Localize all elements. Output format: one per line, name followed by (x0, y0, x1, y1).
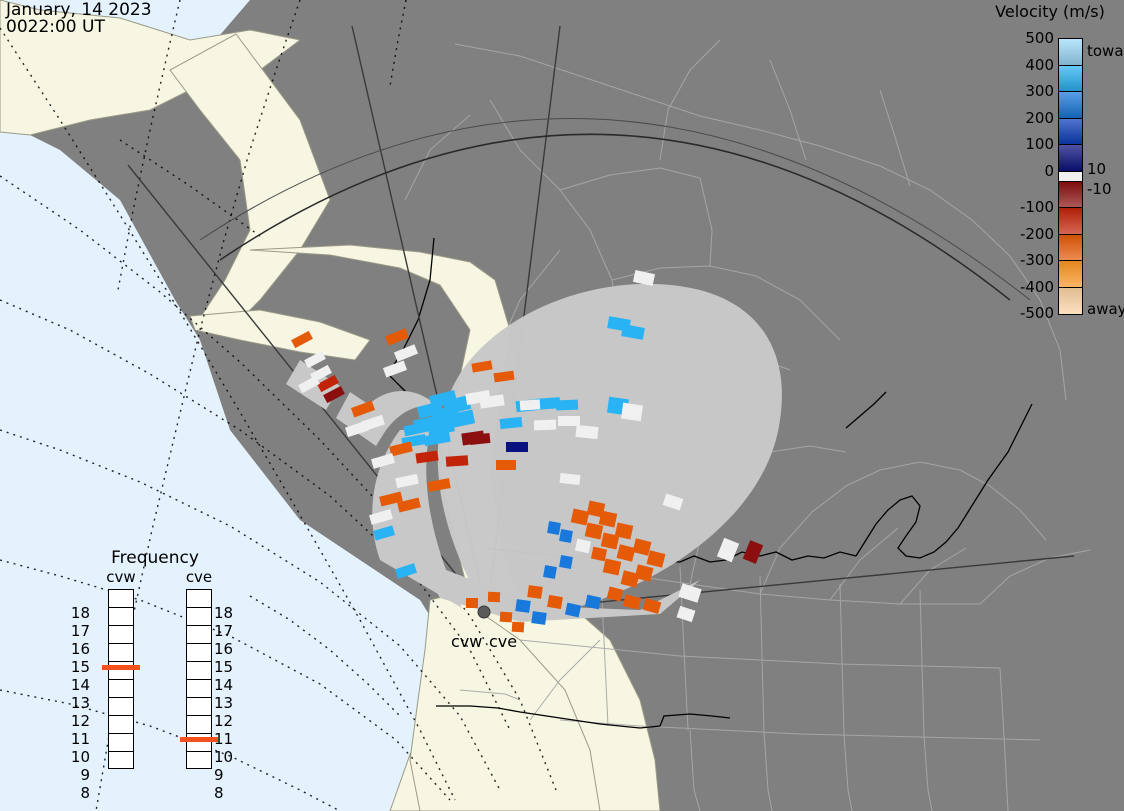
frequency-axis-label: 10 (66, 750, 90, 765)
velocity-cell (496, 460, 516, 470)
colorbar-tick-label: 100 (996, 137, 1054, 152)
velocity-cell (479, 394, 504, 408)
velocity-cell (621, 570, 640, 587)
velocity-cell (493, 371, 514, 383)
velocity-cell (547, 595, 563, 609)
velocity-cell (559, 555, 573, 569)
velocity-cell (603, 558, 622, 575)
velocity-cell (585, 595, 601, 610)
frequency-axis-label: 16 (66, 642, 90, 657)
frequency-axis-label: 13 (66, 696, 90, 711)
frequency-scale-box (108, 589, 134, 769)
velocity-cell (575, 425, 598, 439)
frequency-axis-label: 16 (214, 642, 238, 657)
velocity-cell (520, 399, 541, 410)
velocity-cell (615, 522, 634, 539)
velocity-cell (560, 473, 581, 485)
frequency-scale-cell (187, 716, 211, 734)
velocity-cell (527, 585, 543, 599)
site-label-cvw: cvw (451, 632, 482, 651)
frequency-axis-label: 15 (214, 660, 238, 675)
frequency-marker (180, 737, 218, 742)
velocity-cell (371, 453, 395, 469)
frequency-scale-cell (187, 698, 211, 716)
velocity-cell (351, 401, 375, 418)
colorbar-tick-label: 200 (996, 111, 1054, 126)
frequency-scale-box (186, 589, 212, 769)
frequency-title: Frequency (90, 548, 220, 568)
site-label-cve: cve (489, 632, 517, 651)
frequency-axis-label: 18 (66, 606, 90, 621)
velocity-cell (446, 455, 469, 467)
velocity-cell (585, 522, 604, 539)
colorbar-band (1059, 119, 1082, 146)
colorbar-title: Velocity (m/s) (981, 2, 1119, 21)
radar-map-screenshot: January, 14 2023 0022:00 UT Velocity (m/… (0, 0, 1124, 811)
frequency-scale-cell (109, 590, 133, 608)
velocity-cell (291, 331, 313, 348)
frequency-scale-cell (109, 680, 133, 698)
velocity-cell (547, 521, 561, 535)
colorbar-band (1059, 92, 1082, 119)
frequency-axis-label: 9 (66, 768, 90, 783)
velocity-cell (543, 565, 557, 579)
frequency-scale-cell (109, 752, 133, 770)
colorbar-tick-label: 400 (996, 58, 1054, 73)
velocity-cell (647, 550, 666, 567)
velocity-cell (663, 494, 684, 511)
velocity-cell (395, 563, 417, 579)
colorbar-band (1059, 182, 1082, 209)
velocity-cell (591, 547, 607, 562)
velocity-cell (743, 540, 763, 564)
frequency-axis-label: 15 (66, 660, 90, 675)
velocity-cell (369, 509, 393, 525)
frequency-scale-cell (187, 644, 211, 662)
velocity-cell (556, 400, 578, 411)
frequency-axis-label: 9 (214, 768, 238, 783)
velocity-colorbar: Velocity (m/s) 5004003002001000-100-200-… (975, 0, 1124, 330)
frequency-scale-cell (187, 626, 211, 644)
frequency-axis-label: 14 (66, 678, 90, 693)
frequency-scale-cell (187, 608, 211, 626)
velocity-cell (383, 361, 407, 378)
frequency-axis-label: 14 (214, 678, 238, 693)
velocity-cell (559, 529, 573, 543)
frequency-column-name: cve (168, 569, 230, 585)
frequency-axis-label: 8 (214, 786, 238, 801)
frequency-marker (102, 665, 140, 670)
colorbar-band (1059, 261, 1082, 288)
colorbar-tick-label: -100 (996, 200, 1054, 215)
frequency-axis-label: 13 (214, 696, 238, 711)
frequency-column-cve: cve 18171615141312111098 (168, 569, 230, 769)
velocity-cell (506, 442, 528, 452)
velocity-cell (466, 598, 478, 608)
frequency-scale-cell (109, 716, 133, 734)
colorbar-tick-label: 300 (996, 84, 1054, 99)
velocity-cell (345, 421, 369, 437)
colorbar-band (1059, 288, 1082, 315)
velocity-cell (717, 538, 739, 563)
colorbar-gradient-strip (1058, 38, 1083, 315)
velocity-cell (471, 360, 492, 372)
colorbar-band (1059, 172, 1082, 182)
colorbar-tick-label: 0 (996, 164, 1054, 179)
frequency-scale-cell (109, 734, 133, 752)
velocity-cell (565, 603, 581, 618)
colorbar-tick-label: -500 (996, 306, 1054, 321)
frequency-scale-cell (109, 626, 133, 644)
velocity-cell (415, 451, 438, 464)
velocity-cell (678, 583, 701, 602)
frequency-legend: Frequency cvw 18171615141312111098 cve 1… (90, 545, 260, 790)
frequency-scale-cell (187, 680, 211, 698)
velocity-cell (607, 586, 623, 601)
frequency-column-name: cvw (90, 569, 152, 585)
frequency-axis-label: 10 (214, 750, 238, 765)
colorbar-negative-threshold-label: -10 (1087, 182, 1112, 197)
frequency-axis-label: 12 (66, 714, 90, 729)
frequency-scale-cell (187, 590, 211, 608)
velocity-cell (677, 606, 696, 622)
time-label: 0022:00 UT (6, 18, 105, 36)
frequency-axis-label: 11 (66, 732, 90, 747)
velocity-cell (621, 403, 643, 422)
colorbar-tick-label: -300 (996, 253, 1054, 268)
velocity-cell (512, 622, 525, 633)
colorbar-away-label: away (1087, 302, 1124, 317)
frequency-scale-cell (187, 752, 211, 770)
frequency-axis-label: 18 (214, 606, 238, 621)
velocity-cell (500, 417, 523, 429)
frequency-scale-cell (109, 698, 133, 716)
velocity-cell (385, 328, 409, 346)
colorbar-tick-label: 500 (996, 31, 1054, 46)
colorbar-band (1059, 145, 1082, 172)
frequency-axis-label: 17 (66, 624, 90, 639)
velocity-cell (304, 351, 326, 368)
frequency-column-cvw: cvw 18171615141312111098 (90, 569, 152, 769)
velocity-cell (575, 539, 591, 554)
velocity-cell (531, 611, 547, 625)
frequency-scale-cell (109, 608, 133, 626)
colorbar-tick-label: -400 (996, 280, 1054, 295)
velocity-cell (373, 525, 395, 540)
velocity-cell (621, 324, 645, 340)
colorbar-positive-threshold-label: 10 (1087, 162, 1106, 177)
velocity-cell (427, 478, 450, 492)
frequency-axis-label: 12 (214, 714, 238, 729)
velocity-cell (500, 612, 513, 623)
velocity-cell (643, 598, 662, 614)
colorbar-band (1059, 39, 1082, 66)
frequency-scale-cell (109, 644, 133, 662)
colorbar-band (1059, 66, 1082, 93)
velocity-cell (395, 474, 419, 488)
velocity-cell (534, 420, 556, 431)
frequency-axis-label: 17 (214, 624, 238, 639)
velocity-cell (633, 270, 655, 286)
colorbar-tick-label: -200 (996, 227, 1054, 242)
frequency-scale-cell (187, 662, 211, 680)
velocity-cell (423, 432, 450, 446)
velocity-cell (394, 344, 418, 362)
frequency-axis-label: 8 (66, 786, 90, 801)
velocity-cell (298, 376, 320, 393)
velocity-cell (488, 592, 500, 602)
colorbar-band (1059, 235, 1082, 262)
colorbar-band (1059, 208, 1082, 235)
colorbar-toward-label: toward (1087, 44, 1124, 59)
velocity-cell (515, 599, 531, 613)
velocity-cell (623, 594, 641, 610)
